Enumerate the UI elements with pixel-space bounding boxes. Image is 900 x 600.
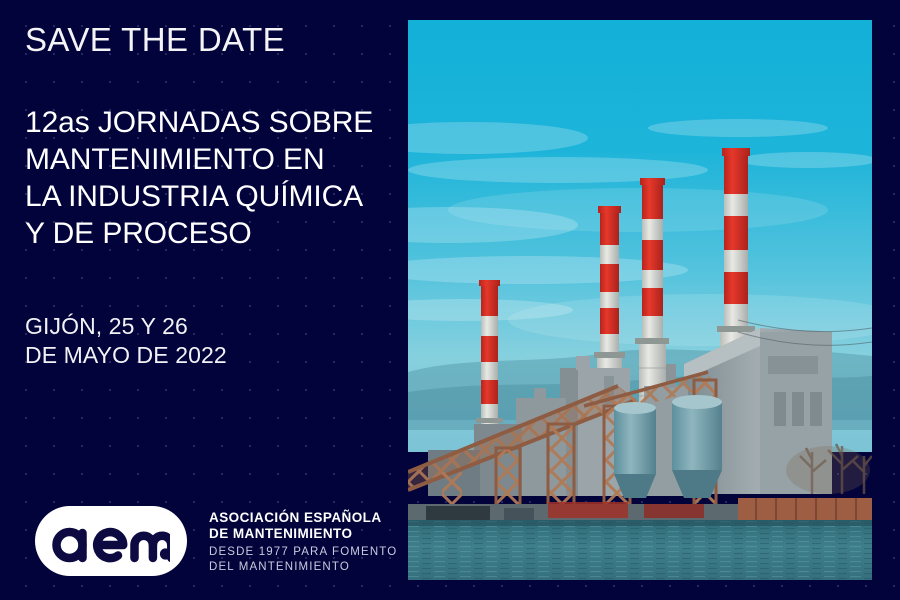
event-date-line-1: GIJÓN, 25 Y 26 bbox=[25, 312, 227, 341]
headline: 12as JORNADAS SOBRE MANTENIMIENTO EN LA … bbox=[25, 104, 405, 252]
org-tagline-line-2: DEL MANTENIMIENTO bbox=[209, 560, 397, 575]
headline-line-1: 12as JORNADAS SOBRE bbox=[25, 104, 405, 141]
organization-name: ASOCIACIÓN ESPAÑOLA DE MANTENIMIENTO bbox=[209, 510, 397, 542]
aem-logo-pill bbox=[35, 506, 187, 576]
aem-period-dot bbox=[160, 548, 170, 559]
aem-wordmark-icon bbox=[52, 519, 170, 563]
organization-tagline: DESDE 1977 PARA FOMENTO DEL MANTENIMIENT… bbox=[209, 545, 397, 575]
event-date-line-2: DE MAYO DE 2022 bbox=[25, 341, 227, 370]
industrial-plant-illustration bbox=[408, 20, 872, 580]
headline-line-2: MANTENIMIENTO EN bbox=[25, 141, 405, 178]
event-date: GIJÓN, 25 Y 26 DE MAYO DE 2022 bbox=[25, 312, 227, 370]
org-tagline-line-1: DESDE 1977 PARA FOMENTO bbox=[209, 545, 397, 560]
headline-line-3: LA INDUSTRIA QUÍMICA bbox=[25, 178, 405, 215]
industrial-plant-photo bbox=[408, 20, 872, 580]
save-the-date-poster: SAVE THE DATE 12as JORNADAS SOBRE MANTEN… bbox=[0, 0, 900, 600]
org-name-line-2: DE MANTENIMIENTO bbox=[209, 526, 397, 542]
eyebrow-save-the-date: SAVE THE DATE bbox=[25, 22, 285, 58]
headline-line-4: Y DE PROCESO bbox=[25, 215, 405, 252]
org-name-line-1: ASOCIACIÓN ESPAÑOLA bbox=[209, 510, 397, 526]
aem-logo-text: ASOCIACIÓN ESPAÑOLA DE MANTENIMIENTO DES… bbox=[209, 508, 397, 575]
aem-logo-lockup[interactable]: ASOCIACIÓN ESPAÑOLA DE MANTENIMIENTO DES… bbox=[35, 506, 397, 576]
